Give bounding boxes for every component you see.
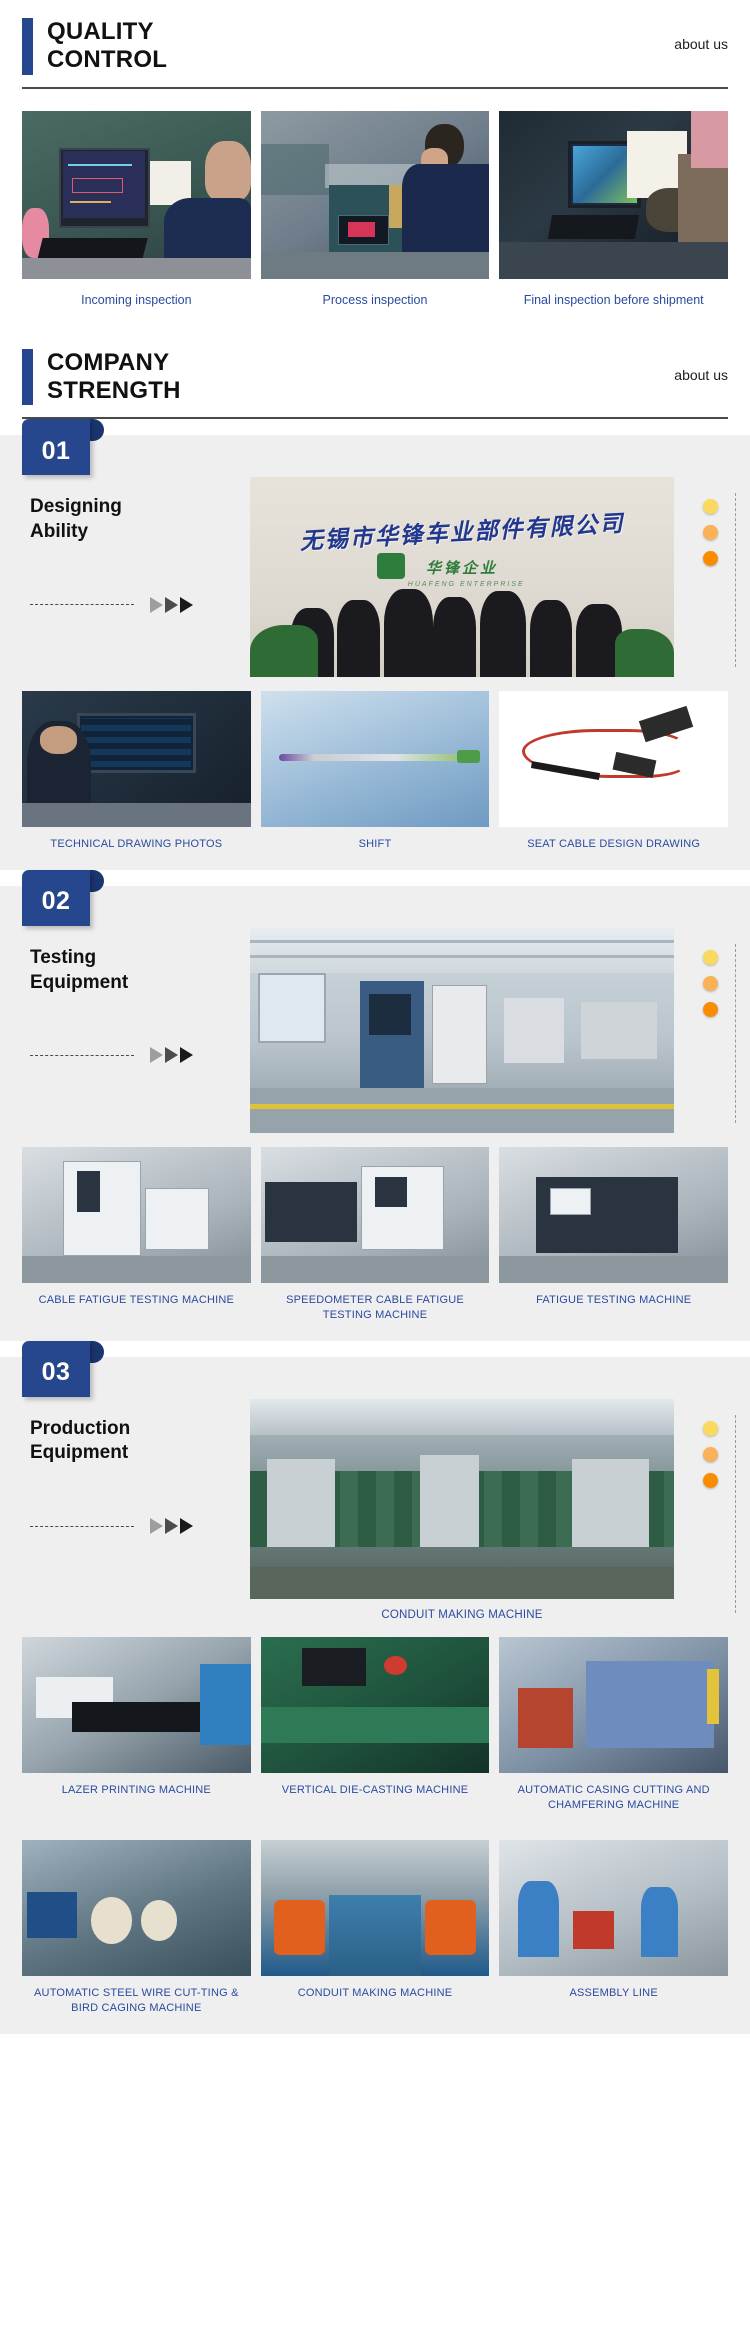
dashed-line — [30, 1526, 134, 1527]
thumb-conduit-making: CONDUIT MAKING MACHINE — [261, 1840, 490, 2030]
cable-fatigue-testing-machine-photo — [22, 1147, 251, 1283]
company-strength-header: COMPANY STRENGTH about us — [0, 331, 750, 420]
arrow-right-icon — [150, 1518, 163, 1534]
arrow-right-icon — [180, 1518, 193, 1534]
ribbon-badge-03: 03 — [22, 1341, 90, 1397]
decor-dots-03 — [703, 1421, 718, 1488]
arrow-right-icon — [150, 1047, 163, 1063]
block-number: 02 — [22, 870, 90, 926]
quality-control-image-row: Incoming inspection Process inspection F… — [0, 89, 750, 331]
caption-incoming-inspection: Incoming inspection — [22, 292, 251, 309]
shift-cable-photo — [261, 691, 490, 827]
arrow-group-icon — [150, 1518, 193, 1534]
vertical-dashed-divider — [735, 1415, 736, 1613]
team-photo-logo-cn: 华锋企业 — [377, 557, 547, 578]
caption-fatigue-testing-machine: FATIGUE TESTING MACHINE — [499, 1293, 728, 1322]
block-01-hero-wrap: 无锡市华锋车业部件有限公司 华锋企业 HUAFENG ENTERPRISE — [250, 477, 750, 677]
dashed-arrow-indicator — [30, 1518, 250, 1534]
caption-shift: SHIFT — [261, 837, 490, 866]
vertical-dashed-divider — [735, 944, 736, 1123]
team-members — [284, 581, 640, 677]
about-us-link-strength[interactable]: about us — [674, 367, 728, 383]
company-team-photo: 无锡市华锋车业部件有限公司 华锋企业 HUAFENG ENTERPRISE — [250, 477, 674, 677]
caption-seat-cable-design: SEAT CABLE DESIGN DRAWING — [499, 837, 728, 866]
block-03-left: Production Equipment — [0, 1399, 250, 1623]
block-label-production-equipment: Production Equipment — [30, 1417, 250, 1466]
strength-block-01: 01 Designing Ability 无锡市华锋车业部件有限公司 — [0, 435, 750, 870]
thumb-fatigue-machine: FATIGUE TESTING MACHINE — [499, 1147, 728, 1337]
process-inspection-photo — [261, 111, 490, 279]
thumb-lazer-printing: LAZER PRINTING MACHINE — [22, 1637, 251, 1827]
dot-orange — [703, 1473, 718, 1488]
speedometer-cable-fatigue-testing-machine-photo — [261, 1147, 490, 1283]
dashed-line — [30, 1055, 134, 1056]
thumb-vertical-die-casting: VERTICAL DIE-CASTING MACHINE — [261, 1637, 490, 1827]
caption-cable-fatigue-testing-machine: CABLE FATIGUE TESTING MACHINE — [22, 1293, 251, 1322]
incoming-inspection-photo — [22, 111, 251, 279]
automatic-casing-cutting-machine-photo — [499, 1637, 728, 1773]
dot-light-orange — [703, 976, 718, 991]
thumb-casing-cutting: AUTOMATIC CASING CUTTING AND CHAMFERING … — [499, 1637, 728, 1827]
decor-dots-02 — [703, 950, 718, 1017]
block-01-thumb-row: TECHNICAL DRAWING PHOTOS SHIFT SEAT CABL… — [0, 677, 750, 866]
dot-orange — [703, 551, 718, 566]
caption-automatic-steel-wire-cutting-machine: AUTOMATIC STEEL WIRE CUT-TING & BIRD CAG… — [22, 1986, 251, 2030]
caption-automatic-casing-cutting-machine: AUTOMATIC CASING CUTTING AND CHAMFERING … — [499, 1783, 728, 1827]
caption-conduit-making-machine-hero: CONDUIT MAKING MACHINE — [250, 1599, 674, 1623]
production-line-photo — [250, 1399, 674, 1599]
block-02-left: Testing Equipment — [0, 928, 250, 1133]
thumb-technical-drawing: TECHNICAL DRAWING PHOTOS — [22, 691, 251, 866]
thumb-steel-wire-cutting: AUTOMATIC STEEL WIRE CUT-TING & BIRD CAG… — [22, 1840, 251, 2030]
block-01-left: Designing Ability — [0, 477, 250, 677]
qc-item-final: Final inspection before shipment — [499, 111, 728, 331]
block-03-hero-wrap: CONDUIT MAKING MACHINE — [250, 1399, 750, 1623]
accent-bar — [22, 18, 33, 75]
automatic-steel-wire-cutting-machine-photo — [22, 1840, 251, 1976]
thumb-seat-cable: SEAT CABLE DESIGN DRAWING — [499, 691, 728, 866]
block-02-hero-wrap — [250, 928, 750, 1133]
vertical-die-casting-machine-photo — [261, 1637, 490, 1773]
dot-yellow — [703, 950, 718, 965]
block-03-thumb-row-2: AUTOMATIC STEEL WIRE CUT-TING & BIRD CAG… — [0, 1826, 750, 2030]
dot-yellow — [703, 1421, 718, 1436]
dot-light-orange — [703, 525, 718, 540]
block-label-testing-equipment: Testing Equipment — [30, 946, 250, 995]
thumb-shift: SHIFT — [261, 691, 490, 866]
arrow-right-icon — [180, 1047, 193, 1063]
thumb-speedometer-fatigue: SPEEDOMETER CABLE FATIGUE TESTING MACHIN… — [261, 1147, 490, 1337]
arrow-right-icon — [180, 597, 193, 613]
caption-vertical-die-casting-machine: VERTICAL DIE-CASTING MACHINE — [261, 1783, 490, 1812]
qc-item-incoming: Incoming inspection — [22, 111, 251, 331]
testing-lab-photo — [250, 928, 674, 1133]
assembly-line-photo — [499, 1840, 728, 1976]
dashed-arrow-indicator — [30, 597, 250, 613]
team-photo-wall-text: 无锡市华锋车业部件有限公司 — [266, 502, 657, 558]
arrow-right-icon — [165, 1518, 178, 1534]
seat-cable-design-photo — [499, 691, 728, 827]
company-strength-title-wrap: COMPANY STRENGTH — [22, 349, 181, 406]
strength-block-02: 02 Testing Equipment — [0, 886, 750, 1341]
quality-control-header: QUALITY CONTROL about us — [0, 0, 750, 89]
dot-orange — [703, 1002, 718, 1017]
arrow-right-icon — [150, 597, 163, 613]
ribbon-badge-02: 02 — [22, 870, 90, 926]
dashed-arrow-indicator — [30, 1047, 250, 1063]
ribbon-badge-01: 01 — [22, 419, 90, 475]
arrow-right-icon — [165, 1047, 178, 1063]
page-title: QUALITY CONTROL — [47, 18, 167, 75]
final-inspection-photo — [499, 111, 728, 279]
about-us-link-quality[interactable]: about us — [674, 36, 728, 52]
quality-control-title-wrap: QUALITY CONTROL — [22, 18, 167, 75]
caption-process-inspection: Process inspection — [261, 292, 490, 309]
arrow-group-icon — [150, 597, 193, 613]
lazer-printing-machine-photo — [22, 1637, 251, 1773]
arrow-right-icon — [165, 597, 178, 613]
dashed-line — [30, 604, 134, 605]
qc-item-process: Process inspection — [261, 111, 490, 331]
thumb-assembly-line: ASSEMBLY LINE — [499, 1840, 728, 2030]
block-number: 03 — [22, 1341, 90, 1397]
block-02-thumb-row: CABLE FATIGUE TESTING MACHINE SPEEDOMETE… — [0, 1133, 750, 1337]
dot-light-orange — [703, 1447, 718, 1462]
block-03-thumb-row-1: LAZER PRINTING MACHINE VERTICAL DIE-CAST… — [0, 1623, 750, 1827]
arrow-group-icon — [150, 1047, 193, 1063]
caption-speedometer-cable-fatigue-testing-machine: SPEEDOMETER CABLE FATIGUE TESTING MACHIN… — [261, 1293, 490, 1337]
caption-assembly-line: ASSEMBLY LINE — [499, 1986, 728, 2015]
caption-lazer-printing-machine: LAZER PRINTING MACHINE — [22, 1783, 251, 1812]
caption-final-inspection: Final inspection before shipment — [499, 292, 728, 309]
section-title: COMPANY STRENGTH — [47, 349, 181, 406]
accent-bar — [22, 349, 33, 406]
vertical-dashed-divider — [735, 493, 736, 667]
technical-drawing-photo — [22, 691, 251, 827]
block-label-designing-ability: Designing Ability — [30, 495, 250, 544]
caption-conduit-making-machine: CONDUIT MAKING MACHINE — [261, 1986, 490, 2015]
conduit-making-machine-photo — [261, 1840, 490, 1976]
about-us-page: QUALITY CONTROL about us Incoming inspec… — [0, 0, 750, 2034]
thumb-cable-fatigue: CABLE FATIGUE TESTING MACHINE — [22, 1147, 251, 1337]
decor-dots-01 — [703, 499, 718, 566]
caption-technical-drawing: TECHNICAL DRAWING PHOTOS — [22, 837, 251, 866]
strength-block-03: 03 Production Equipment — [0, 1357, 750, 2034]
block-number: 01 — [22, 419, 90, 475]
dot-yellow — [703, 499, 718, 514]
fatigue-testing-machine-photo — [499, 1147, 728, 1283]
